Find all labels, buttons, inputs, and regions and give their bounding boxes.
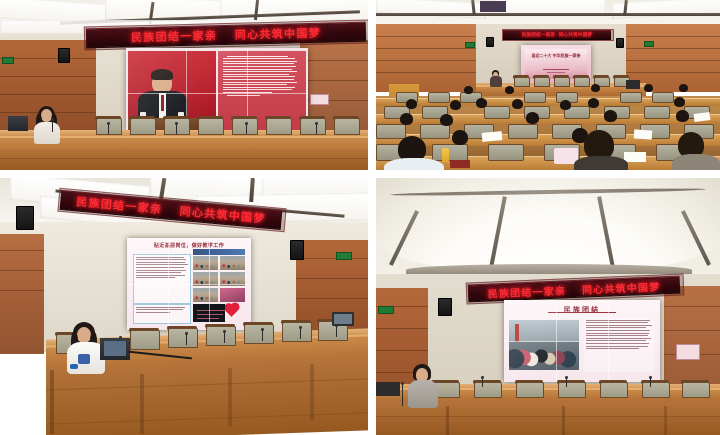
laptop <box>8 116 28 131</box>
photo-collage: 民族团结一家亲 同心共筑中国梦 <box>0 0 720 435</box>
panel-bottom-right: 民族团结一家亲 同心共筑中国梦 民族团结 <box>376 178 720 435</box>
video-wall-screen: 民族团结 <box>504 300 660 382</box>
podium-microphone <box>402 384 403 406</box>
ceiling-speaker-icon <box>58 48 70 63</box>
stage-presenter <box>489 70 503 86</box>
notice-board <box>676 344 700 360</box>
panel-top-left: 民族团结一家亲 同心共筑中国梦 <box>0 0 368 170</box>
panel-top-right: 民族团结一家亲 同心共筑中国梦 喜迎二十大 中华民族一家亲 <box>376 0 720 170</box>
banner-text-left: 民族团结一家亲 <box>131 27 218 45</box>
video-wall-screen: 贴近基层岗位，做好教学工作 <box>127 238 251 330</box>
panel-bottom-left: 民族团结一家亲 同心共筑中国梦 贴近基层岗位，做好教学工作 <box>0 178 368 435</box>
audience-foreground-right <box>574 130 628 170</box>
banner-text-left: 民族团结一家亲 <box>487 282 566 300</box>
banner-text-right: 同心共筑中国梦 <box>235 25 322 43</box>
banner-text-left: 民族团结一家亲 <box>522 32 556 38</box>
banner-text-right: 同心共筑中国梦 <box>582 278 661 296</box>
banner-text-right: 同心共筑中国梦 <box>559 32 593 38</box>
audience-foreground-far-right <box>672 132 720 170</box>
collage-divider-vertical <box>368 0 376 435</box>
collage-divider-horizontal <box>0 170 720 178</box>
notebook <box>450 160 470 168</box>
exit-sign <box>2 57 14 64</box>
audience-foreground-left <box>384 136 444 170</box>
seated-presenter <box>30 106 64 140</box>
standing-presenter <box>406 364 440 406</box>
led-banner: 民族团结一家亲 同心共筑中国梦 <box>503 30 611 40</box>
notice-board <box>310 94 329 105</box>
